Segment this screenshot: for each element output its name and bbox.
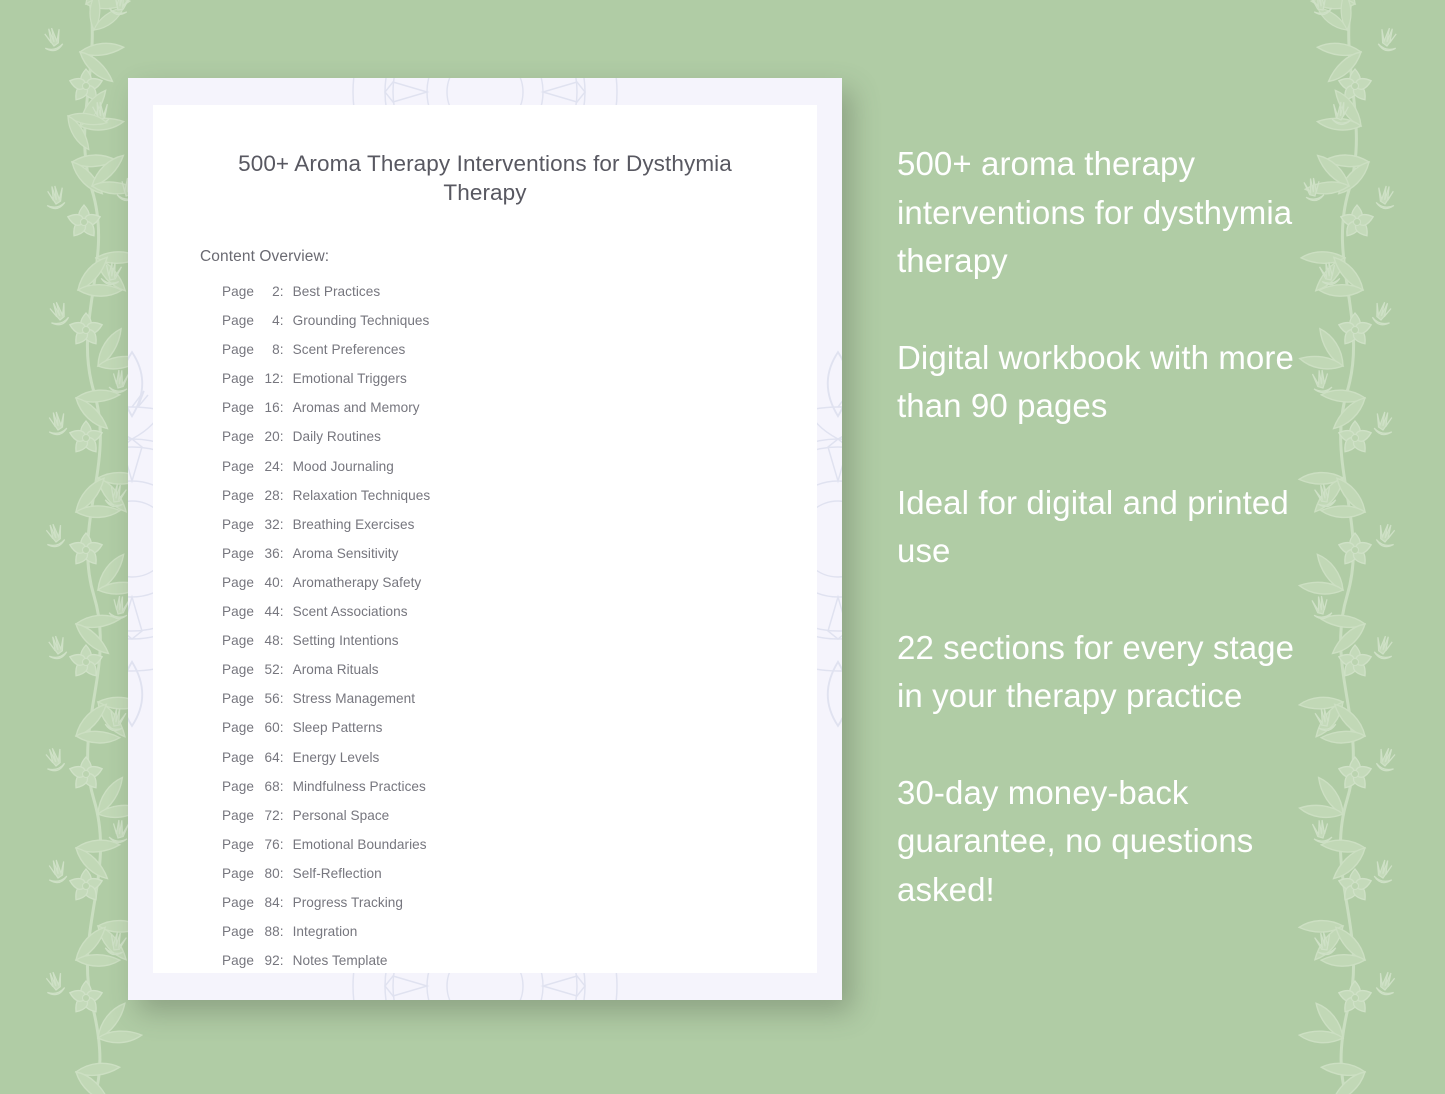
toc-entry: Page 12:Emotional Triggers <box>153 371 817 400</box>
toc-entry: Page 72:Personal Space <box>153 808 817 837</box>
page-title: 500+ Aroma Therapy Interventions for Dys… <box>153 105 817 207</box>
toc-colon: : <box>280 488 293 503</box>
toc-entry: Page 16:Aromas and Memory <box>153 400 817 429</box>
toc-page-word: Page <box>222 720 258 735</box>
toc-entry: Page 60:Sleep Patterns <box>153 720 817 749</box>
toc-page-word: Page <box>222 546 258 561</box>
toc-page-word: Page <box>222 604 258 619</box>
toc-topic: Scent Preferences <box>293 342 406 357</box>
marketing-bullet: 30-day money-back guarantee, no question… <box>897 769 1317 915</box>
toc-page-number: 44 <box>258 604 280 619</box>
toc-entry: Page 24:Mood Journaling <box>153 459 817 488</box>
toc-page-word: Page <box>222 953 258 968</box>
toc-entry: Page 64:Energy Levels <box>153 750 817 779</box>
toc-page-word: Page <box>222 313 258 328</box>
toc-topic: Integration <box>293 924 358 939</box>
toc-topic: Aromatherapy Safety <box>293 575 422 590</box>
toc-page-word: Page <box>222 779 258 794</box>
toc-entry: Page 2:Best Practices <box>153 284 817 313</box>
toc-page-word: Page <box>222 691 258 706</box>
toc-topic: Grounding Techniques <box>293 313 430 328</box>
toc-topic: Mindfulness Practices <box>293 779 426 794</box>
toc-page-number: 28 <box>258 488 280 503</box>
toc-colon: : <box>280 342 293 357</box>
toc-topic: Scent Associations <box>293 604 408 619</box>
toc-topic: Aroma Rituals <box>293 662 379 677</box>
toc-page-number: 84 <box>258 895 280 910</box>
marketing-bullet: 22 sections for every stage in your ther… <box>897 624 1317 721</box>
toc-entry: Page 20:Daily Routines <box>153 429 817 458</box>
toc-colon: : <box>280 313 293 328</box>
toc-colon: : <box>280 691 293 706</box>
toc-topic: Mood Journaling <box>293 459 394 474</box>
toc-colon: : <box>280 750 293 765</box>
toc-page-number: 72 <box>258 808 280 823</box>
toc-entry: Page 56:Stress Management <box>153 691 817 720</box>
marketing-bullet: Ideal for digital and printed use <box>897 479 1317 576</box>
toc-colon: : <box>280 400 293 415</box>
toc-page-word: Page <box>222 488 258 503</box>
toc-page-number: 2 <box>258 284 280 299</box>
toc-colon: : <box>280 924 293 939</box>
marketing-bullets: 500+ aroma therapy interventions for dys… <box>897 140 1317 914</box>
toc-page-number: 64 <box>258 750 280 765</box>
toc-page-word: Page <box>222 400 258 415</box>
toc-page-number: 32 <box>258 517 280 532</box>
toc-entry: Page 8:Scent Preferences <box>153 342 817 371</box>
toc-page-number: 36 <box>258 546 280 561</box>
toc-page-word: Page <box>222 866 258 881</box>
toc-page-word: Page <box>222 750 258 765</box>
toc-page-number: 80 <box>258 866 280 881</box>
toc-entry: Page 4:Grounding Techniques <box>153 313 817 342</box>
toc-entry: Page 36:Aroma Sensitivity <box>153 546 817 575</box>
toc-topic: Aroma Sensitivity <box>293 546 399 561</box>
toc-colon: : <box>280 371 293 386</box>
toc-page-number: 68 <box>258 779 280 794</box>
toc-topic: Breathing Exercises <box>293 517 415 532</box>
toc-page-word: Page <box>222 284 258 299</box>
toc-page-number: 48 <box>258 633 280 648</box>
toc-entry: Page 80:Self-Reflection <box>153 866 817 895</box>
toc-entry: Page 44:Scent Associations <box>153 604 817 633</box>
toc-colon: : <box>280 779 293 794</box>
toc-page-number: 4 <box>258 313 280 328</box>
toc-page-word: Page <box>222 662 258 677</box>
toc-page-word: Page <box>222 924 258 939</box>
toc-page-word: Page <box>222 342 258 357</box>
toc-page-word: Page <box>222 459 258 474</box>
toc-page-word: Page <box>222 575 258 590</box>
table-of-contents: Page 2:Best PracticesPage 4:Grounding Te… <box>153 266 817 982</box>
toc-colon: : <box>280 866 293 881</box>
toc-page-number: 52 <box>258 662 280 677</box>
toc-entry: Page 92:Notes Template <box>153 953 817 982</box>
toc-page-word: Page <box>222 895 258 910</box>
toc-topic: Personal Space <box>293 808 390 823</box>
toc-page-number: 60 <box>258 720 280 735</box>
toc-colon: : <box>280 895 293 910</box>
toc-topic: Sleep Patterns <box>293 720 383 735</box>
toc-page-number: 92 <box>258 953 280 968</box>
marketing-bullet: Digital workbook with more than 90 pages <box>897 334 1317 431</box>
toc-topic: Emotional Boundaries <box>293 837 427 852</box>
toc-entry: Page 48:Setting Intentions <box>153 633 817 662</box>
toc-colon: : <box>280 284 293 299</box>
toc-entry: Page 84:Progress Tracking <box>153 895 817 924</box>
toc-topic: Progress Tracking <box>293 895 403 910</box>
toc-page-word: Page <box>222 808 258 823</box>
toc-page-word: Page <box>222 371 258 386</box>
toc-colon: : <box>280 429 293 444</box>
content-overview-label: Content Overview: <box>153 207 817 266</box>
toc-page-number: 76 <box>258 837 280 852</box>
toc-topic: Daily Routines <box>293 429 381 444</box>
toc-colon: : <box>280 459 293 474</box>
toc-page-word: Page <box>222 633 258 648</box>
toc-entry: Page 68:Mindfulness Practices <box>153 779 817 808</box>
toc-colon: : <box>280 546 293 561</box>
toc-entry: Page 28:Relaxation Techniques <box>153 488 817 517</box>
toc-colon: : <box>280 575 293 590</box>
toc-topic: Self-Reflection <box>293 866 382 881</box>
toc-entry: Page 52:Aroma Rituals <box>153 662 817 691</box>
toc-page-number: 56 <box>258 691 280 706</box>
document-preview-card[interactable]: 500+ Aroma Therapy Interventions for Dys… <box>128 78 842 1000</box>
toc-page-number: 24 <box>258 459 280 474</box>
toc-entry: Page 32:Breathing Exercises <box>153 517 817 546</box>
toc-topic: Emotional Triggers <box>293 371 407 386</box>
toc-colon: : <box>280 720 293 735</box>
toc-page-word: Page <box>222 429 258 444</box>
toc-topic: Stress Management <box>293 691 416 706</box>
toc-topic: Relaxation Techniques <box>293 488 431 503</box>
toc-page-word: Page <box>222 517 258 532</box>
toc-page-number: 8 <box>258 342 280 357</box>
toc-page-number: 16 <box>258 400 280 415</box>
toc-colon: : <box>280 808 293 823</box>
toc-entry: Page 88:Integration <box>153 924 817 953</box>
toc-page-number: 88 <box>258 924 280 939</box>
toc-colon: : <box>280 633 293 648</box>
toc-colon: : <box>280 662 293 677</box>
toc-topic: Energy Levels <box>293 750 380 765</box>
toc-page-word: Page <box>222 837 258 852</box>
toc-colon: : <box>280 604 293 619</box>
toc-topic: Best Practices <box>293 284 381 299</box>
toc-page-number: 20 <box>258 429 280 444</box>
marketing-bullet: 500+ aroma therapy interventions for dys… <box>897 140 1317 286</box>
toc-topic: Notes Template <box>293 953 388 968</box>
toc-entry: Page 76:Emotional Boundaries <box>153 837 817 866</box>
toc-topic: Setting Intentions <box>293 633 399 648</box>
document-page: 500+ Aroma Therapy Interventions for Dys… <box>153 105 817 973</box>
toc-colon: : <box>280 517 293 532</box>
toc-entry: Page 40:Aromatherapy Safety <box>153 575 817 604</box>
toc-colon: : <box>280 953 293 968</box>
toc-colon: : <box>280 837 293 852</box>
toc-page-number: 12 <box>258 371 280 386</box>
toc-topic: Aromas and Memory <box>293 400 420 415</box>
toc-page-number: 40 <box>258 575 280 590</box>
